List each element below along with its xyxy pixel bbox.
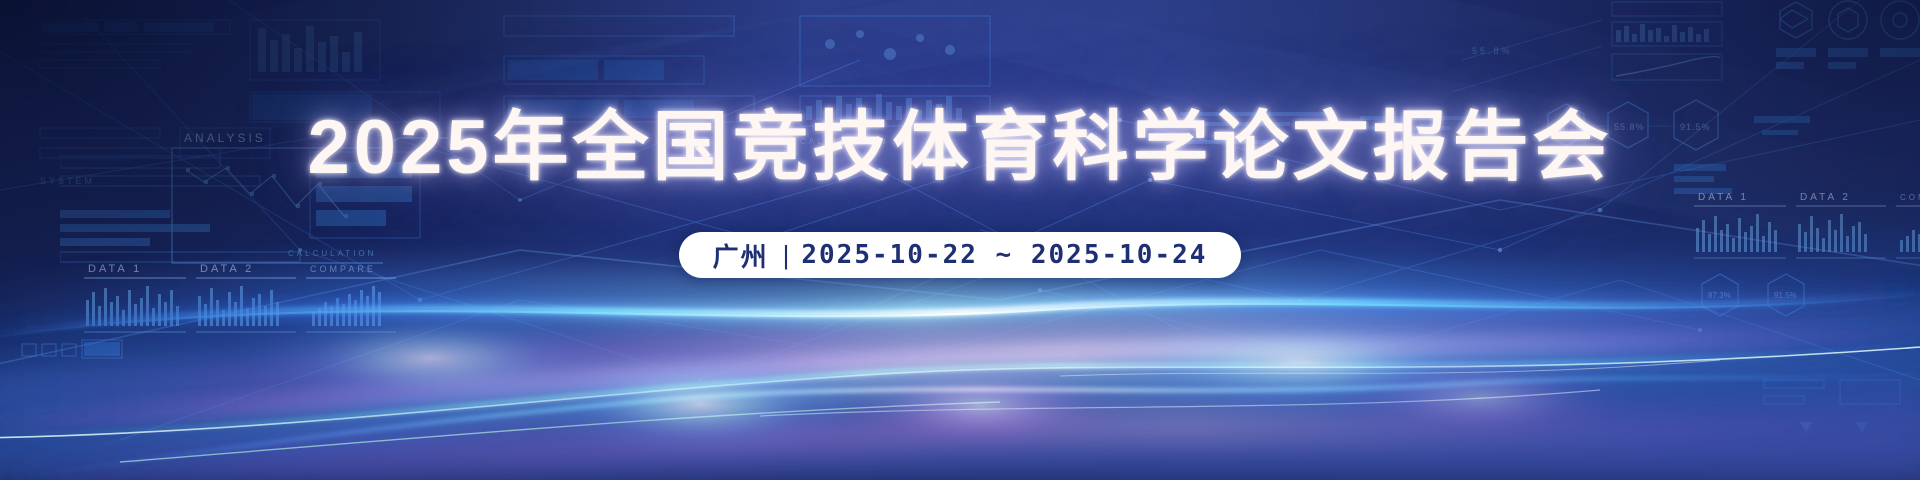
badge-separator: | bbox=[783, 240, 790, 271]
banner-content: 2025年全国竞技体育科学论文报告会 广州 | 2025-10-22 ~ 202… bbox=[0, 0, 1920, 480]
badge-date-range: 2025-10-22 ~ 2025-10-24 bbox=[801, 240, 1207, 270]
page-title: 2025年全国竞技体育科学论文报告会 bbox=[307, 110, 1612, 186]
venue-date-badge: 广州 | 2025-10-22 ~ 2025-10-24 bbox=[679, 232, 1242, 278]
badge-city: 广州 bbox=[713, 237, 769, 274]
conference-banner: SYSTEM bbox=[0, 0, 1920, 480]
